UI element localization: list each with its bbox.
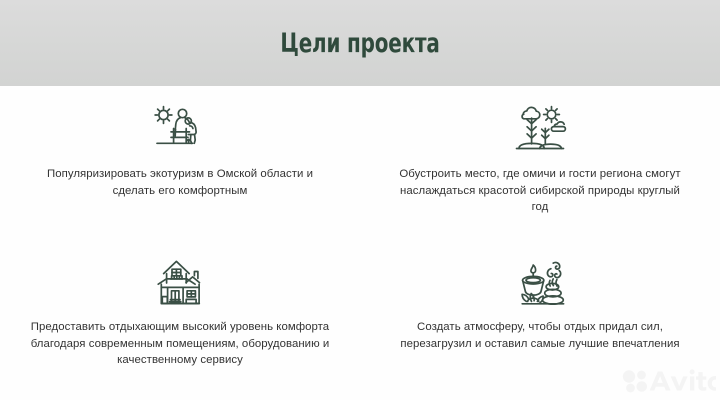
goal-item-2-text: Обустроить место, где омичи и гости реги… xyxy=(394,166,686,216)
goals-section: Популяризировать экотуризм в Омской обла… xyxy=(0,86,720,400)
goal-item-4: Создать атмосферу, чтобы отдых придал си… xyxy=(360,243,720,400)
goal-item-3-text: Предоставить отдыхающим высокий уровень … xyxy=(27,319,333,369)
cottage-house-icon xyxy=(149,253,211,315)
slide-cели-проекта: Цели проекта xyxy=(0,0,720,400)
spa-candle-stones-icon xyxy=(509,253,571,315)
goal-item-3: Предоставить отдыхающим высокий уровень … xyxy=(0,243,360,400)
goal-item-2: Обустроить место, где омичи и гости реги… xyxy=(360,86,720,243)
goals-grid: Популяризировать экотуризм в Омской обла… xyxy=(0,86,720,400)
goal-item-4-text: Создать атмосферу, чтобы отдых придал си… xyxy=(387,319,693,352)
hiker-with-sun-icon xyxy=(149,100,211,162)
page-title: Цели проекта xyxy=(65,0,655,86)
goal-item-1-text: Популяризировать экотуризм в Омской обла… xyxy=(34,166,326,199)
trees-sun-clouds-icon xyxy=(509,100,571,162)
goal-item-1: Популяризировать экотуризм в Омской обла… xyxy=(0,86,360,243)
